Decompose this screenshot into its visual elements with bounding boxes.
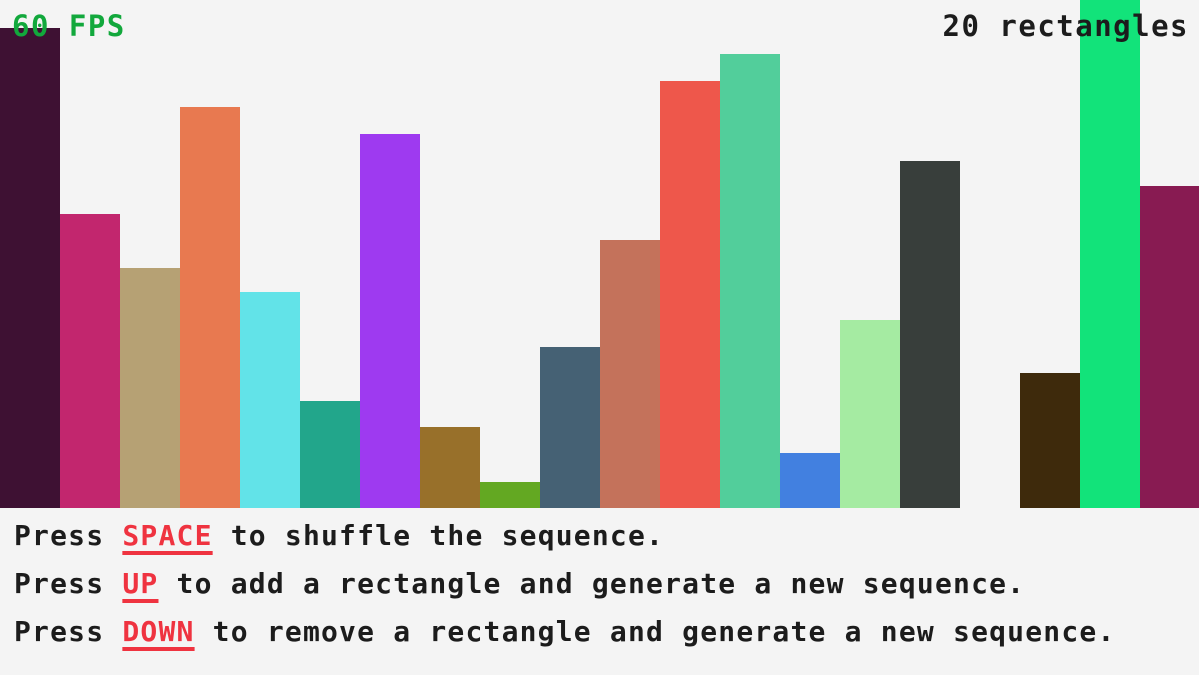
app-root: 60 FPS 20 rectangles Press SPACE to shuf… [0, 0, 1199, 675]
instruction-line: Press DOWN to remove a rectangle and gen… [14, 618, 1199, 646]
bar-rectangle [0, 28, 60, 508]
bar-rectangle [540, 347, 600, 508]
bar-rectangle [480, 482, 540, 508]
bar-rectangle [300, 401, 360, 508]
instruction-prefix: Press [14, 567, 122, 600]
bar-rectangle [1140, 186, 1199, 508]
instruction-line: Press UP to add a rectangle and generate… [14, 570, 1199, 598]
bar-rectangle [420, 427, 480, 508]
instruction-prefix: Press [14, 519, 122, 552]
bar-rectangle [720, 54, 780, 508]
instruction-prefix: Press [14, 615, 122, 648]
instruction-suffix: to remove a rectangle and generate a new… [195, 615, 1116, 648]
bar-rectangle [660, 81, 720, 508]
keyboard-key-up[interactable]: UP [122, 567, 158, 600]
bar-rectangle [780, 453, 840, 508]
instruction-suffix: to add a rectangle and generate a new se… [158, 567, 1025, 600]
instruction-line: Press SPACE to shuffle the sequence. [14, 522, 1199, 550]
keyboard-key-down[interactable]: DOWN [122, 615, 194, 648]
bar-rectangle [600, 240, 660, 508]
bar-rectangle [240, 292, 300, 508]
bar-rectangle [900, 161, 960, 508]
keyboard-key-space[interactable]: SPACE [122, 519, 212, 552]
rectangles-canvas[interactable] [0, 0, 1199, 508]
instructions-panel: Press SPACE to shuffle the sequence.Pres… [0, 508, 1199, 675]
bar-rectangle [360, 134, 420, 508]
bar-rectangle [120, 268, 180, 508]
bar-rectangle [60, 214, 120, 508]
bar-rectangle [840, 320, 900, 508]
rectangle-count-label: 20 rectangles [943, 12, 1189, 41]
bar-rectangle [1020, 373, 1080, 508]
bar-rectangle [180, 107, 240, 508]
fps-counter: 60 FPS [12, 12, 126, 41]
instruction-suffix: to shuffle the sequence. [213, 519, 664, 552]
bar-rectangle [1080, 0, 1140, 508]
